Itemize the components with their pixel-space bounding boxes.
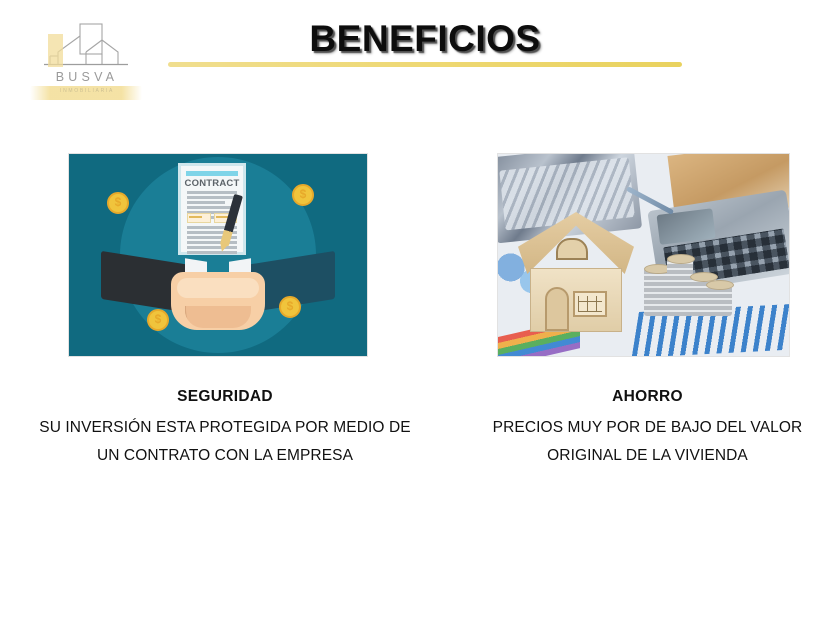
caption-title: AHORRO [460,388,835,406]
coin-icon: $ [107,192,129,214]
contract-label: CONTRACT [181,178,243,189]
coin-stack [706,284,732,316]
wooden-house-model [522,212,630,332]
handshake-icon [171,272,265,330]
page-title: BENEFICIOS [168,18,682,60]
logo-subtitle-highlight: INMOBILIARIA [30,86,142,100]
caption-body: SU INVERSIÓN ESTA PROTEGIDA POR MEDIO DE… [30,414,420,470]
busva-logo: BUSVA INMOBILIARIA [26,22,144,104]
coin-icon: $ [292,184,314,206]
handshake-contract-illustration: CONTRACT $ $ $ $ [68,153,368,357]
logo-subtitle: INMOBILIARIA [30,88,142,94]
logo-wordmark: BUSVA [26,70,144,84]
benefit-card-seguridad: CONTRACT $ $ $ $ [68,153,368,357]
caption-seguridad: SEGURIDAD SU INVERSIÓN ESTA PROTEGIDA PO… [30,388,420,470]
slide-header: BUSVA INMOBILIARIA BENEFICIOS [0,0,840,120]
title-underline-rule [168,62,682,67]
benefit-card-ahorro [497,153,790,357]
house-body [530,268,622,332]
coin-icon: $ [279,296,301,318]
caption-title: SEGURIDAD [30,388,420,406]
logo-accent-swatch [48,34,63,67]
caption-ahorro: AHORRO PRECIOS MUY POR DE BAJO DEL VALOR… [460,388,835,470]
house-window [573,291,607,317]
house-door [545,287,569,331]
coin-icon: $ [147,309,169,331]
caption-body: PRECIOS MUY POR DE BAJO DEL VALOR ORIGIN… [460,414,835,470]
document-header-band [186,171,238,176]
house-gable-window [556,238,588,260]
house-model-coins-calculator-photo [497,153,790,357]
coin-stacks [644,246,730,316]
